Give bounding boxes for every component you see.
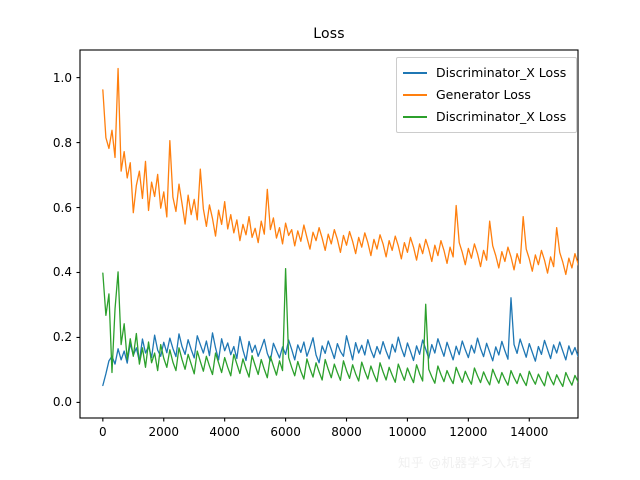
x-tick-label: 2000: [148, 426, 179, 438]
x-tick-label: 10000: [388, 426, 426, 438]
legend-item-label: Discriminator_X Loss: [436, 110, 566, 124]
x-tick-label: 14000: [510, 426, 548, 438]
y-tick-label: 0.8: [28, 137, 72, 149]
x-tick-label: 0: [99, 426, 107, 438]
y-tick-label: 0.6: [28, 202, 72, 214]
watermark: 知乎 @机器学习入坑者: [398, 452, 532, 471]
x-tick-label: 12000: [449, 426, 487, 438]
legend-line-swatch-discriminator-x-blue: [403, 72, 427, 74]
legend-line-swatch-generator: [403, 94, 427, 96]
chart-legend: Discriminator_X Loss Generator Loss Disc…: [396, 57, 577, 133]
x-tick-label: 6000: [270, 426, 301, 438]
legend-item-label: Generator Loss: [436, 88, 531, 102]
x-tick-label: 8000: [331, 426, 362, 438]
matplotlib-figure: Loss Discriminator_X Loss Generator Loss…: [0, 0, 640, 480]
y-tick-label: 1.0: [28, 72, 72, 84]
legend-item[interactable]: Discriminator_X Loss: [403, 106, 570, 128]
legend-item-label: Discriminator_X Loss: [436, 66, 566, 80]
legend-item[interactable]: Discriminator_X Loss: [403, 62, 570, 84]
legend-item[interactable]: Generator Loss: [403, 84, 570, 106]
y-tick-label: 0.2: [28, 331, 72, 343]
x-tick-label: 4000: [209, 426, 240, 438]
y-tick-label: 0.0: [28, 396, 72, 408]
y-tick-label: 0.4: [28, 266, 72, 278]
legend-line-swatch-discriminator-x-green: [403, 116, 427, 118]
